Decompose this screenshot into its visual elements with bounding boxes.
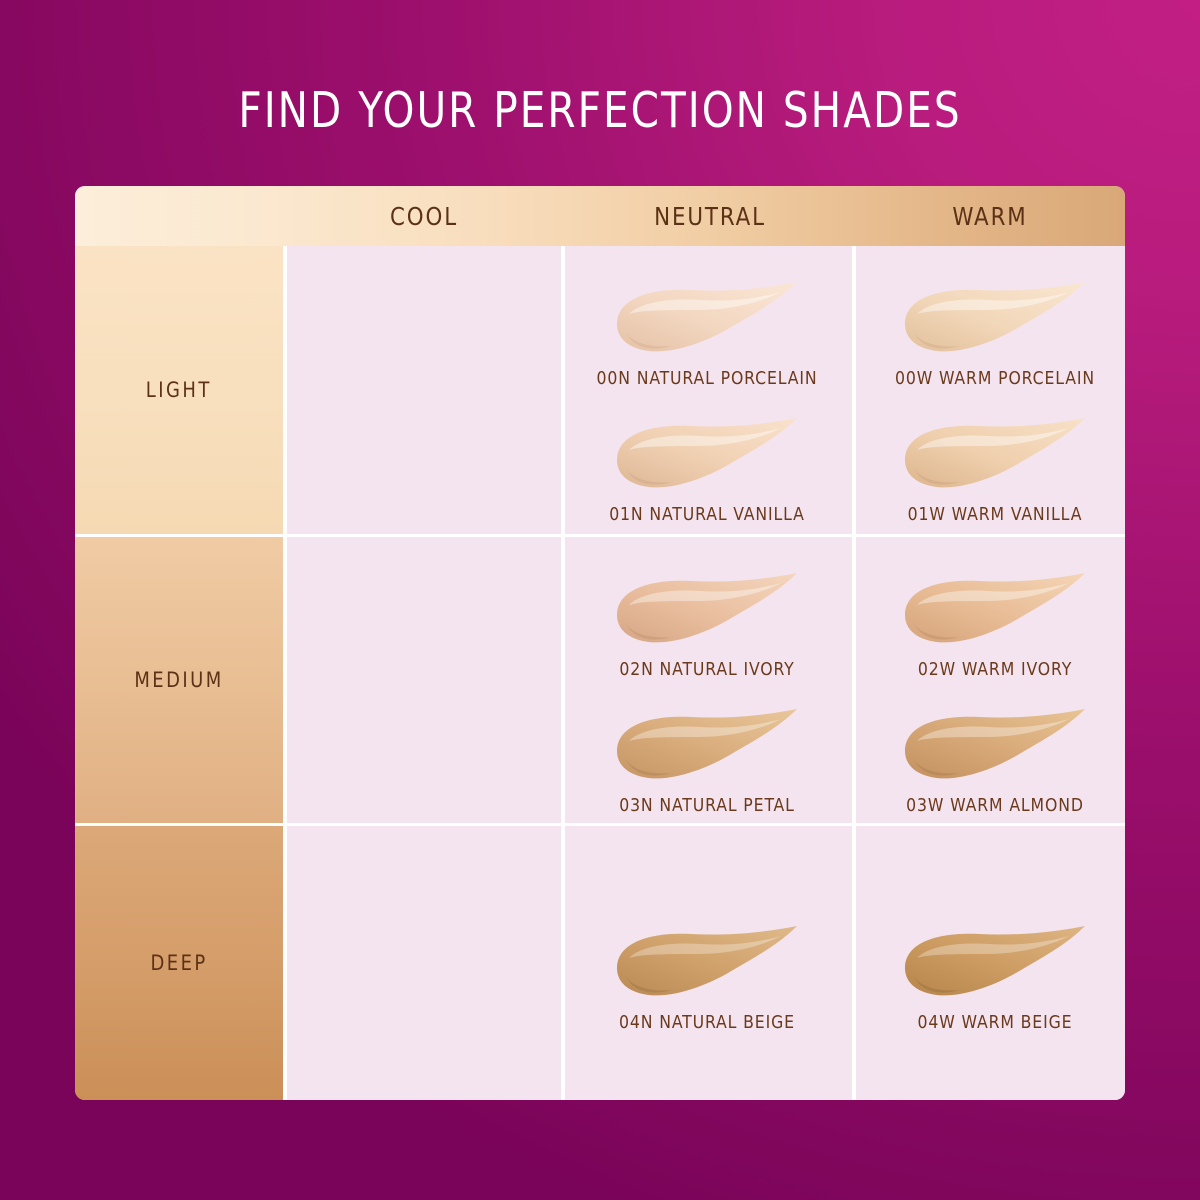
shade-finder-page: FIND YOUR PERFECTION SHADES COOL NEUTRAL… [0,0,1200,1200]
foundation-swatch-icon [607,705,807,787]
header-column-cool: COOL [290,186,558,246]
column-divider-left [283,537,287,823]
foundation-swatch-icon [895,705,1095,787]
foundation-swatch-icon [895,922,1095,1004]
column-divider-cool [561,826,565,1100]
foundation-swatch-icon [895,278,1095,360]
column-divider-cool [561,537,565,823]
foundation-swatch-icon [607,569,807,651]
depth-label-text: DEEP [150,951,207,975]
column-divider-cool [561,246,565,534]
shade-label: 03N NATURAL PETAL [571,795,843,816]
shade-cell-03w[interactable]: 03W WARM ALMOND [855,705,1125,816]
shade-label: 03W WARM ALMOND [859,795,1125,816]
shade-label: 02N NATURAL IVORY [571,659,843,680]
depth-row-label-medium: MEDIUM [75,537,283,823]
column-divider-left [283,246,287,534]
shade-cell-04w[interactable]: 04W WARM BEIGE [855,922,1125,1033]
shade-label: 04W WARM BEIGE [859,1012,1125,1033]
foundation-swatch-icon [895,414,1095,496]
row-divider-medium-deep [75,823,1125,826]
depth-label-text: MEDIUM [134,668,223,692]
row-divider-light-medium [75,534,1125,537]
depth-row-label-deep: DEEP [75,826,283,1100]
foundation-swatch-icon [895,569,1095,651]
shade-cell-02w[interactable]: 02W WARM IVORY [855,569,1125,680]
shade-cell-01w[interactable]: 01W WARM VANILLA [855,414,1125,525]
shade-matrix-table: COOL NEUTRAL WARM [75,186,1125,1100]
header-column-neutral: NEUTRAL [572,186,848,246]
shade-cell-00n[interactable]: 00N NATURAL PORCELAIN [567,278,847,389]
shade-cell-02n[interactable]: 02N NATURAL IVORY [567,569,847,680]
row-region-light: 00N NATURAL PORCELAIN [283,246,1125,534]
foundation-swatch-icon [607,922,807,1004]
depth-row-label-light: LIGHT [75,246,283,534]
header-column-warm: WARM [862,186,1119,246]
depth-label-text: LIGHT [146,378,212,402]
shade-label: 04N NATURAL BEIGE [571,1012,843,1033]
foundation-swatch-icon [607,278,807,360]
row-region-medium: 02N NATURAL IVORY [283,537,1125,823]
shade-label: 02W WARM IVORY [859,659,1125,680]
foundation-swatch-icon [607,414,807,496]
shade-cell-00w[interactable]: 00W WARM PORCELAIN [855,278,1125,389]
table-header-row: COOL NEUTRAL WARM [75,186,1125,246]
column-divider-left [283,826,287,1100]
header-corner-blank [80,186,278,246]
shade-label: 01W WARM VANILLA [859,504,1125,525]
page-title: FIND YOUR PERFECTION SHADES [48,86,1152,135]
shade-cell-01n[interactable]: 01N NATURAL VANILLA [567,414,847,525]
shade-label: 00W WARM PORCELAIN [859,368,1125,389]
row-region-deep: 04N NATURAL BEIGE [283,826,1125,1100]
table-body: 00N NATURAL PORCELAIN [75,246,1125,1100]
shade-label: 00N NATURAL PORCELAIN [571,368,843,389]
shade-label: 01N NATURAL VANILLA [571,504,843,525]
shade-cell-04n[interactable]: 04N NATURAL BEIGE [567,922,847,1033]
shade-cell-03n[interactable]: 03N NATURAL PETAL [567,705,847,816]
